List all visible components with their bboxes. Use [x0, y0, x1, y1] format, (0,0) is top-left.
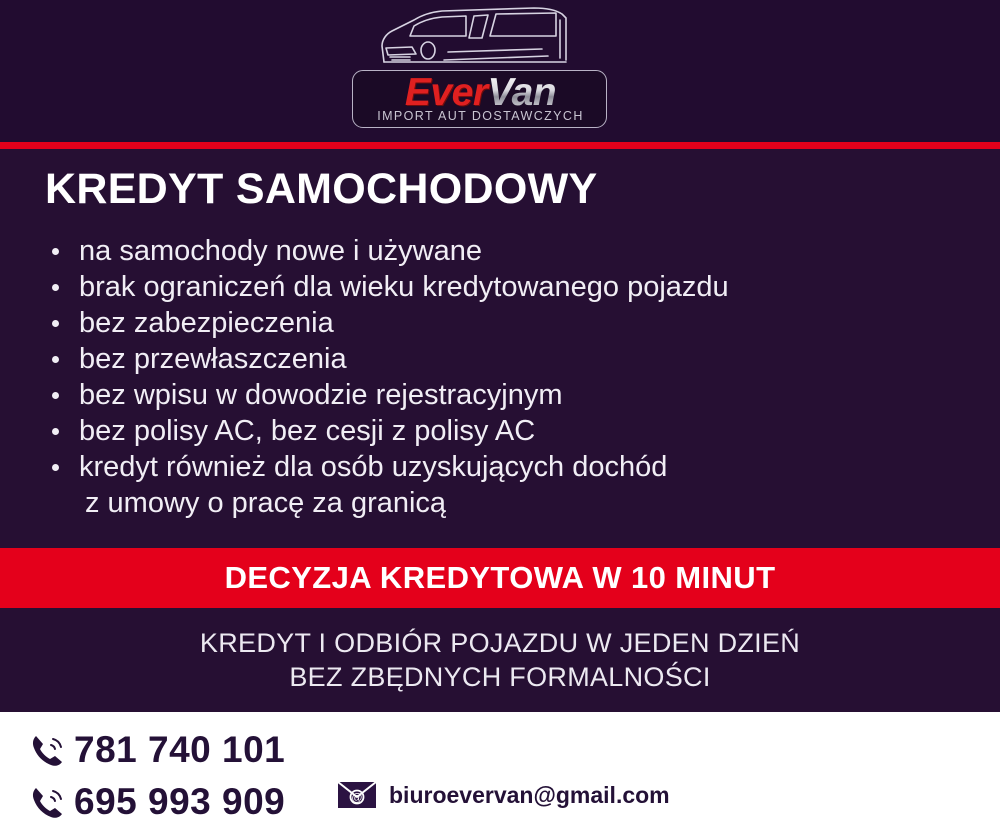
- header: EverVan IMPORT AUT DOSTAWCZYCH: [0, 0, 1000, 142]
- phone-icon: [30, 784, 64, 820]
- advertisement-banner: EverVan IMPORT AUT DOSTAWCZYCH KREDYT SA…: [0, 0, 1000, 838]
- subtext-block: KREDYT I ODBIÓR POJAZDU W JEDEN DZIEŃ BE…: [0, 608, 1000, 712]
- evervan-logo: EverVan IMPORT AUT DOSTAWCZYCH: [352, 2, 612, 140]
- logo-text-van: Van: [488, 71, 557, 114]
- highlight-banner-text: DECYZJA KREDYTOWA W 10 MINUT: [225, 560, 776, 596]
- logo-wordmark: EverVan: [353, 73, 608, 113]
- logo-tagline: IMPORT AUT DOSTAWCZYCH: [353, 109, 608, 123]
- main-content: KREDYT SAMOCHODOWY na samochody nowe i u…: [0, 149, 1000, 548]
- page-title: KREDYT SAMOCHODOWY: [45, 165, 597, 214]
- header-divider: [0, 142, 1000, 149]
- logo-wordmark-box: EverVan IMPORT AUT DOSTAWCZYCH: [352, 70, 607, 128]
- list-item: bez polisy AC, bez cesji z polisy AC: [45, 413, 945, 449]
- footer: 781 740 101 695 993 909 @ biuroevervan@g…: [0, 712, 1000, 838]
- list-item: bez wpisu w dowodzie rejestracyjnym: [45, 377, 945, 413]
- phone-number-1: 781 740 101: [74, 729, 285, 771]
- feature-list: na samochody nowe i używane brak ogranic…: [45, 233, 945, 521]
- envelope-at-icon: @: [337, 780, 377, 810]
- list-item: bez przewłaszczenia: [45, 341, 945, 377]
- list-item: na samochody nowe i używane: [45, 233, 945, 269]
- subtext-line-1: KREDYT I ODBIÓR POJAZDU W JEDEN DZIEŃ: [200, 626, 800, 660]
- list-item: brak ograniczeń dla wieku kredytowanego …: [45, 269, 945, 305]
- phone-icon: [30, 732, 64, 768]
- phone-list: 781 740 101 695 993 909: [30, 724, 285, 828]
- list-item: kredyt również dla osób uzyskujących doc…: [45, 449, 945, 485]
- subtext-line-2: BEZ ZBĘDNYCH FORMALNOŚCI: [289, 660, 710, 694]
- list-item-continuation: z umowy o pracę za granicą: [45, 485, 945, 521]
- phone-row-2[interactable]: 695 993 909: [30, 776, 285, 828]
- list-item: bez zabezpieczenia: [45, 305, 945, 341]
- phone-row-1[interactable]: 781 740 101: [30, 724, 285, 776]
- phone-number-2: 695 993 909: [74, 781, 285, 823]
- email-row[interactable]: @ biuroevervan@gmail.com: [337, 780, 670, 810]
- email-address: biuroevervan@gmail.com: [389, 782, 670, 809]
- svg-text:@: @: [351, 792, 362, 804]
- van-icon: [370, 2, 600, 72]
- highlight-banner: DECYZJA KREDYTOWA W 10 MINUT: [0, 548, 1000, 608]
- logo-text-ever: Ever: [405, 71, 488, 114]
